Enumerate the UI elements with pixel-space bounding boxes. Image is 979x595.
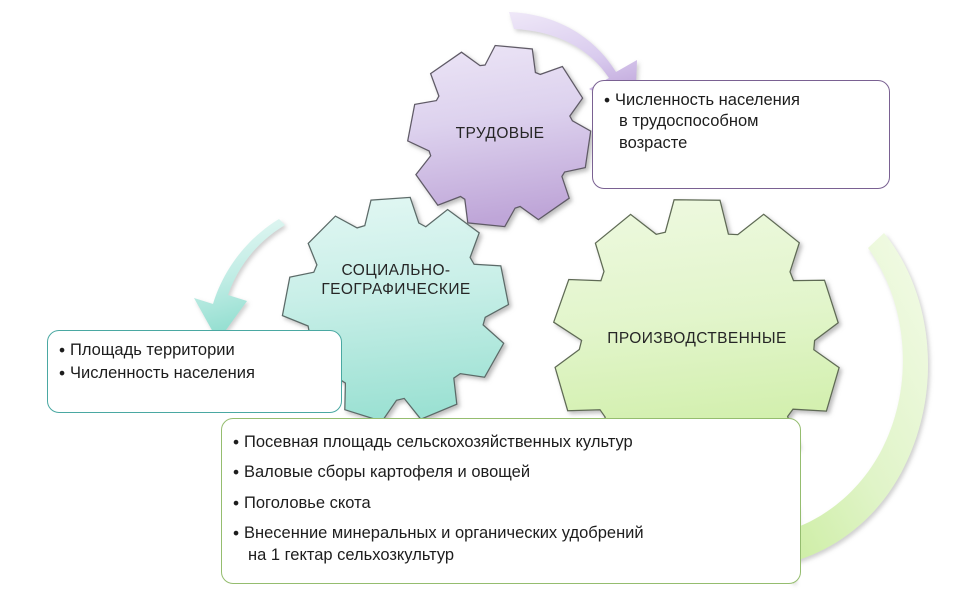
social-arrow-icon [194, 219, 285, 341]
callout-labor-line2: в трудоспособном [615, 111, 877, 132]
list-item: Внесенние минеральных и органических удо… [233, 523, 788, 566]
callout-production-item4: Внесенние минеральных и органических удо… [244, 524, 644, 542]
list-item: Поголовье скота [233, 493, 788, 514]
callout-production-list: Посевная площадь сельскохозяйственных ку… [233, 432, 788, 566]
callout-production-item3: Поголовье скота [244, 494, 371, 512]
callout-social-list: Площадь территории Численность населения [59, 340, 329, 385]
callout-labor-line3: возрасте [615, 133, 877, 154]
callout-production: Посевная площадь сельскохозяйственных ку… [221, 418, 801, 584]
list-item: Площадь территории [59, 340, 329, 361]
list-item: Численность населения [59, 363, 329, 384]
callout-labor: Численность населения в трудоспособном в… [592, 80, 890, 189]
callout-social-item1: Площадь территории [70, 341, 235, 359]
list-item: Посевная площадь сельскохозяйственных ку… [233, 432, 788, 453]
list-item: Численность населения в трудоспособном в… [604, 90, 877, 154]
callout-production-item4-continuation: на 1 гектар сельхозкультур [244, 545, 788, 566]
gear-labor [408, 46, 591, 227]
callout-labor-line1: Численность населения [615, 91, 800, 109]
diagram-canvas: ТРУДОВЫЕ СОЦИАЛЬНО- ГЕОГРАФИЧЕСКИЕ ПРОИЗ… [0, 0, 979, 595]
callout-production-item2: Валовые сборы картофеля и овощей [244, 463, 530, 481]
callout-labor-list: Численность населения в трудоспособном в… [604, 90, 877, 154]
callout-production-item1: Посевная площадь сельскохозяйственных ку… [244, 433, 633, 451]
callout-social-item2: Численность населения [70, 364, 255, 382]
list-item: Валовые сборы картофеля и овощей [233, 462, 788, 483]
callout-social-geographic: Площадь территории Численность населения [47, 330, 342, 413]
